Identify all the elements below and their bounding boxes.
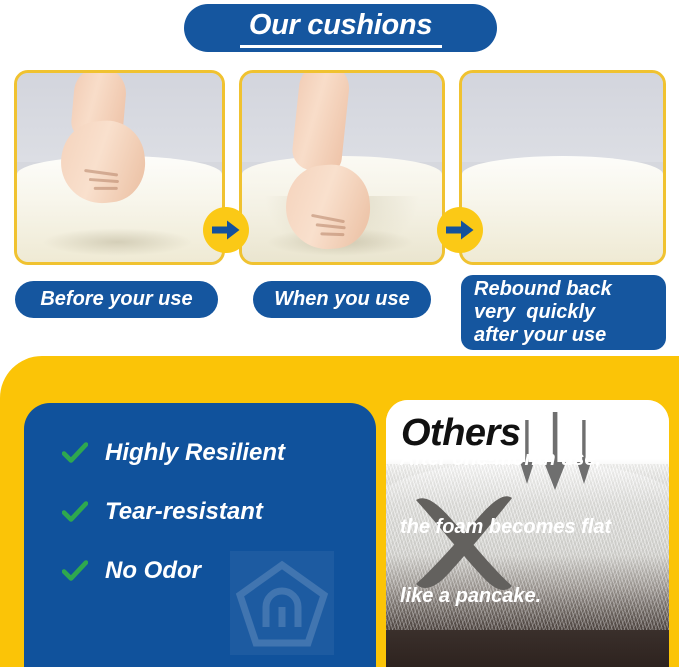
knuckle-crease xyxy=(89,178,119,183)
others-caption: After one-month use, the foam becomes fl… xyxy=(400,402,611,653)
infographic-root: Our cushions xyxy=(0,0,679,667)
arrow-right-icon xyxy=(446,220,474,240)
step-panel-during xyxy=(239,70,445,265)
step-panel-before xyxy=(14,70,225,265)
others-caption-line-2: the foam becomes flat xyxy=(400,516,611,539)
step-panels xyxy=(0,70,679,265)
caption-line-1: Rebound back xyxy=(474,278,612,301)
feature-label: Tear-resistant xyxy=(105,498,263,526)
feature-item-tear-resistant: Tear-resistant xyxy=(62,498,285,526)
features-card: Highly Resilient Tear-resistant No Odor xyxy=(24,403,376,667)
foam-contact-shadow xyxy=(42,228,194,256)
step-panel-after xyxy=(459,70,666,265)
feature-label: Highly Resilient xyxy=(105,439,285,467)
knuckle-crease xyxy=(316,223,346,229)
page-title-banner: Our cushions xyxy=(184,4,497,52)
others-caption-line-1: After one-month use, xyxy=(400,448,611,471)
step-arrow-1 xyxy=(203,207,249,253)
photo-foam-surface xyxy=(462,156,663,262)
feature-label: No Odor xyxy=(105,557,201,585)
knuckle-crease xyxy=(94,187,118,190)
knuckle-crease xyxy=(311,214,345,223)
feature-list: Highly Resilient Tear-resistant No Odor xyxy=(62,439,285,585)
feature-item-highly-resilient: Highly Resilient xyxy=(62,439,285,467)
knuckle-crease xyxy=(320,232,344,236)
feature-item-no-odor: No Odor xyxy=(62,557,285,585)
check-icon xyxy=(62,501,88,523)
step-arrow-2 xyxy=(437,207,483,253)
others-comparison-card: Others After o xyxy=(386,400,669,667)
step-caption-after: Rebound back very quickly after your use xyxy=(461,275,666,350)
arrow-right-icon xyxy=(212,220,240,240)
knuckle-crease xyxy=(84,169,118,177)
check-icon xyxy=(62,442,88,464)
caption-line-2: very quickly xyxy=(474,301,595,324)
step-caption-before: Before your use xyxy=(15,281,218,318)
others-caption-line-3: like a pancake. xyxy=(400,585,611,608)
check-icon xyxy=(62,560,88,582)
step-caption-during: When you use xyxy=(253,281,431,318)
page-title: Our cushions xyxy=(249,11,432,40)
photo-background-wall xyxy=(462,73,663,162)
caption-line-3: after your use xyxy=(474,324,606,347)
title-underline xyxy=(240,45,442,48)
